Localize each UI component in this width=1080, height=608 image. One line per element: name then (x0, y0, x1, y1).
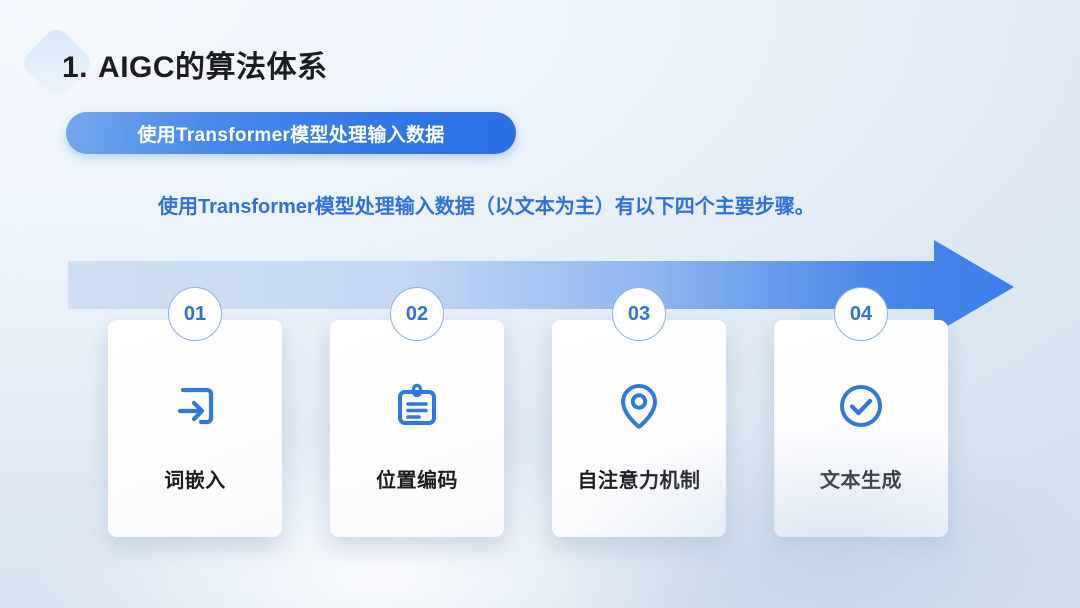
step-number-badge-2: 02 (390, 287, 444, 341)
page-title-number: 1. (62, 51, 88, 84)
step-label-4: 文本生成 (774, 464, 948, 493)
step-card-1[interactable]: 01 词嵌入 (108, 320, 282, 537)
step-number-badge-4: 04 (834, 287, 888, 341)
step-label-1: 词嵌入 (108, 464, 282, 493)
step-number-2: 02 (406, 304, 428, 324)
step-card-2[interactable]: 02 位置编码 (330, 320, 504, 537)
step-number-badge-3: 03 (612, 287, 666, 341)
page-title: 1.AIGC的算法体系 (62, 42, 328, 86)
step-label-3: 自注意力机制 (552, 464, 726, 493)
section-pill-label: 使用Transformer模型处理输入数据 (137, 120, 444, 147)
lead-paragraph: 使用Transformer模型处理输入数据（以文本为主）有以下四个主要步骤。 (158, 190, 815, 219)
step-card-3[interactable]: 03 自注意力机制 (552, 320, 726, 537)
step-number-3: 03 (628, 304, 650, 324)
map-pin-icon (611, 378, 667, 434)
step-card-4[interactable]: 04 文本生成 (774, 320, 948, 537)
check-circle-icon (833, 378, 889, 434)
clipboard-badge-icon (389, 378, 445, 434)
slide-canvas: 1.AIGC的算法体系 使用Transformer模型处理输入数据 使用Tran… (0, 0, 1080, 608)
page-title-text: AIGC的算法体系 (98, 51, 328, 84)
section-pill-badge: 使用Transformer模型处理输入数据 (66, 112, 516, 154)
step-label-2: 位置编码 (330, 464, 504, 493)
step-number-badge-1: 01 (168, 287, 222, 341)
step-number-4: 04 (850, 304, 872, 324)
step-number-1: 01 (184, 304, 206, 324)
sign-in-icon (167, 378, 223, 434)
